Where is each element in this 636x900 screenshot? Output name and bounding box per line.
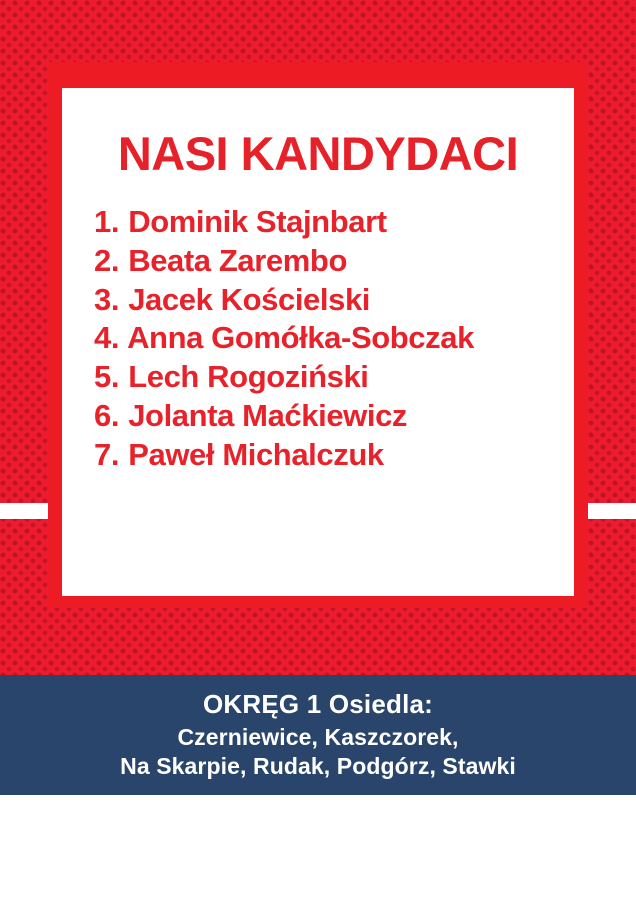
left-white-accent-bar (0, 503, 48, 519)
footer: KKW SLD LEWICA RAZEM SILNY SAMORZĄD DEMO… (0, 795, 636, 900)
candidate-list: 1. Dominik Stajnbart 2. Beata Zarembo 3.… (80, 203, 556, 474)
candidate-name: Jolanta Maćkiewicz (128, 398, 407, 433)
candidate-number: 5. (94, 358, 120, 397)
candidate-name: Beata Zarembo (128, 243, 347, 278)
list-item: 3. Jacek Kościelski (94, 281, 556, 320)
candidate-number: 2. (94, 242, 120, 281)
candidate-number: 3. (94, 281, 120, 320)
list-item: 4. Anna Gomółka-Sobczak (94, 319, 556, 358)
candidate-name: Dominik Stajnbart (128, 204, 386, 239)
list-item: 7. Paweł Michalczuk (94, 436, 556, 475)
list-item: 2. Beata Zarembo (94, 242, 556, 281)
candidates-card: NASI KANDYDACI 1. Dominik Stajnbart 2. B… (62, 88, 574, 596)
campaign-poster: NASI KANDYDACI 1. Dominik Stajnbart 2. B… (0, 0, 636, 900)
candidate-name: Paweł Michalczuk (128, 437, 383, 472)
candidate-number: 4. (94, 319, 120, 358)
candidate-name: Anna Gomółka-Sobczak (127, 320, 474, 355)
district-line-2: Na Skarpie, Rudak, Podgórz, Stawki (120, 752, 516, 781)
candidate-name: Jacek Kościelski (128, 282, 370, 317)
candidate-name: Lech Rogoziński (128, 359, 368, 394)
candidate-number: 6. (94, 397, 120, 436)
list-item: 1. Dominik Stajnbart (94, 203, 556, 242)
district-band: OKRĘG 1 Osiedla: Czerniewice, Kaszczorek… (0, 675, 636, 795)
list-item: 5. Lech Rogoziński (94, 358, 556, 397)
list-item: 6. Jolanta Maćkiewicz (94, 397, 556, 436)
district-heading: OKRĘG 1 Osiedla: (203, 689, 433, 720)
candidate-number: 1. (94, 203, 120, 242)
page-title: NASI KANDYDACI (80, 130, 556, 177)
right-white-accent-bar (588, 503, 636, 519)
candidate-number: 7. (94, 436, 120, 475)
district-line-1: Czerniewice, Kaszczorek, (177, 723, 458, 752)
